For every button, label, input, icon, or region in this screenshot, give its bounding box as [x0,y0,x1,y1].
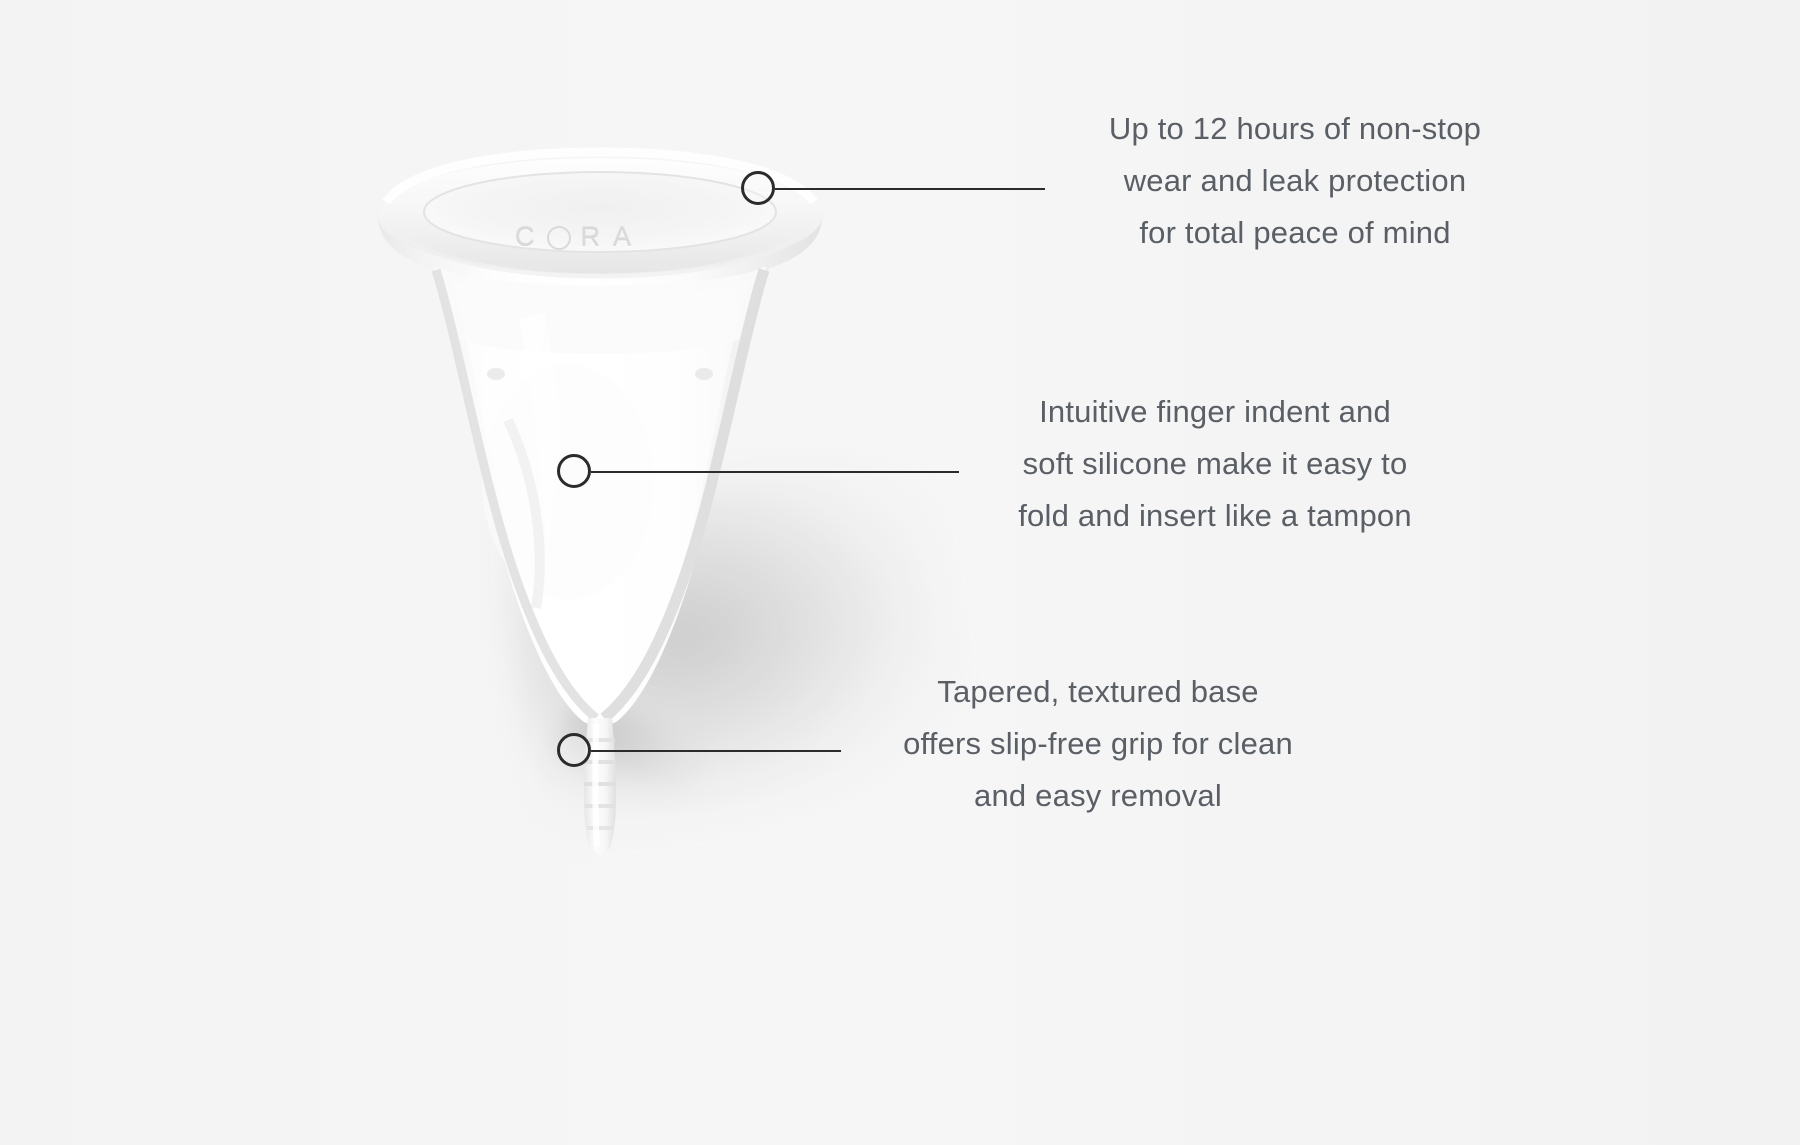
leader-line-body [591,471,959,473]
leader-line-rim [775,188,1045,190]
callout-line: and easy removal [858,770,1338,822]
feature-marker-body[interactable] [557,454,591,488]
ring-o-icon [547,226,571,250]
callout-line: offers slip-free grip for clean [858,718,1338,770]
callout-line: fold and insert like a tampon [975,490,1455,542]
callout-text-textured-base: Tapered, textured base offers slip-free … [858,666,1338,822]
brand-mark-cora: C R A [495,215,655,259]
brand-letter-a: A [613,222,635,253]
callout-line: Intuitive finger indent and [975,386,1455,438]
feature-marker-rim[interactable] [741,171,775,205]
brand-letter-c: C [515,222,539,253]
leader-line-base [591,750,841,752]
feature-marker-base[interactable] [557,733,591,767]
callout-line: soft silicone make it easy to [975,438,1455,490]
product-image-menstrual-cup: C R A [300,120,900,880]
infographic-canvas: C R A Up to 12 hours of non-stop wear an… [0,0,1800,1145]
callout-text-finger-indent: Intuitive finger indent and soft silicon… [975,386,1455,542]
callout-line: for total peace of mind [1055,207,1535,259]
brand-letter-r: R [580,222,604,253]
callout-line: wear and leak protection [1055,155,1535,207]
callout-line: Up to 12 hours of non-stop [1055,103,1535,155]
callout-text-wear-time: Up to 12 hours of non-stop wear and leak… [1055,103,1535,259]
callout-line: Tapered, textured base [858,666,1338,718]
